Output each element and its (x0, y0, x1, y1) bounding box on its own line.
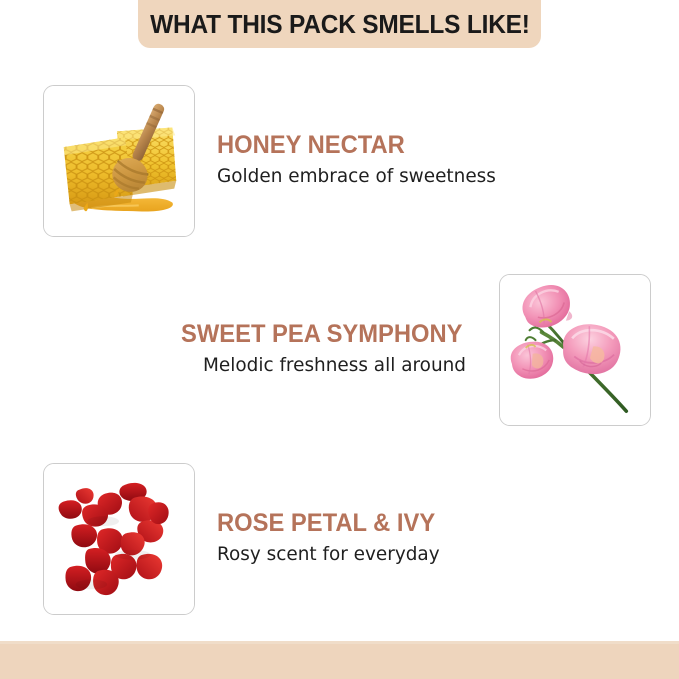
footer-strip (0, 641, 679, 679)
scent-row-rose-petal-and-ivy: ROSE PETAL & IVY Rosy scent for everyday (43, 463, 447, 615)
scent-row-honey-nectar: HONEY NECTAR Golden embrace of sweetness (43, 85, 505, 237)
scent-title: ROSE PETAL & IVY (217, 510, 435, 538)
scent-row-sweet-pea-symphony: SWEET PEA SYMPHONY Melodic freshness all… (181, 274, 651, 426)
red-rose-petals-image (43, 463, 195, 615)
scent-text-block: HONEY NECTAR Golden embrace of sweetness (195, 132, 505, 190)
scent-text-block: SWEET PEA SYMPHONY Melodic freshness all… (181, 321, 499, 379)
scent-title: SWEET PEA SYMPHONY (181, 321, 463, 349)
header-banner: WHAT THIS PACK SMELLS LIKE! (138, 0, 541, 48)
scent-subtitle: Golden embrace of sweetness (217, 164, 496, 190)
honeycomb-with-dipper-image (43, 85, 195, 237)
scent-subtitle: Melodic freshness all around (203, 353, 469, 379)
sweet-pea-flowers-image (499, 274, 651, 426)
page-title: WHAT THIS PACK SMELLS LIKE! (150, 9, 530, 40)
scent-subtitle: Rosy scent for everyday (217, 542, 440, 568)
scent-title: HONEY NECTAR (217, 132, 490, 160)
scent-text-block: ROSE PETAL & IVY Rosy scent for everyday (195, 510, 447, 568)
